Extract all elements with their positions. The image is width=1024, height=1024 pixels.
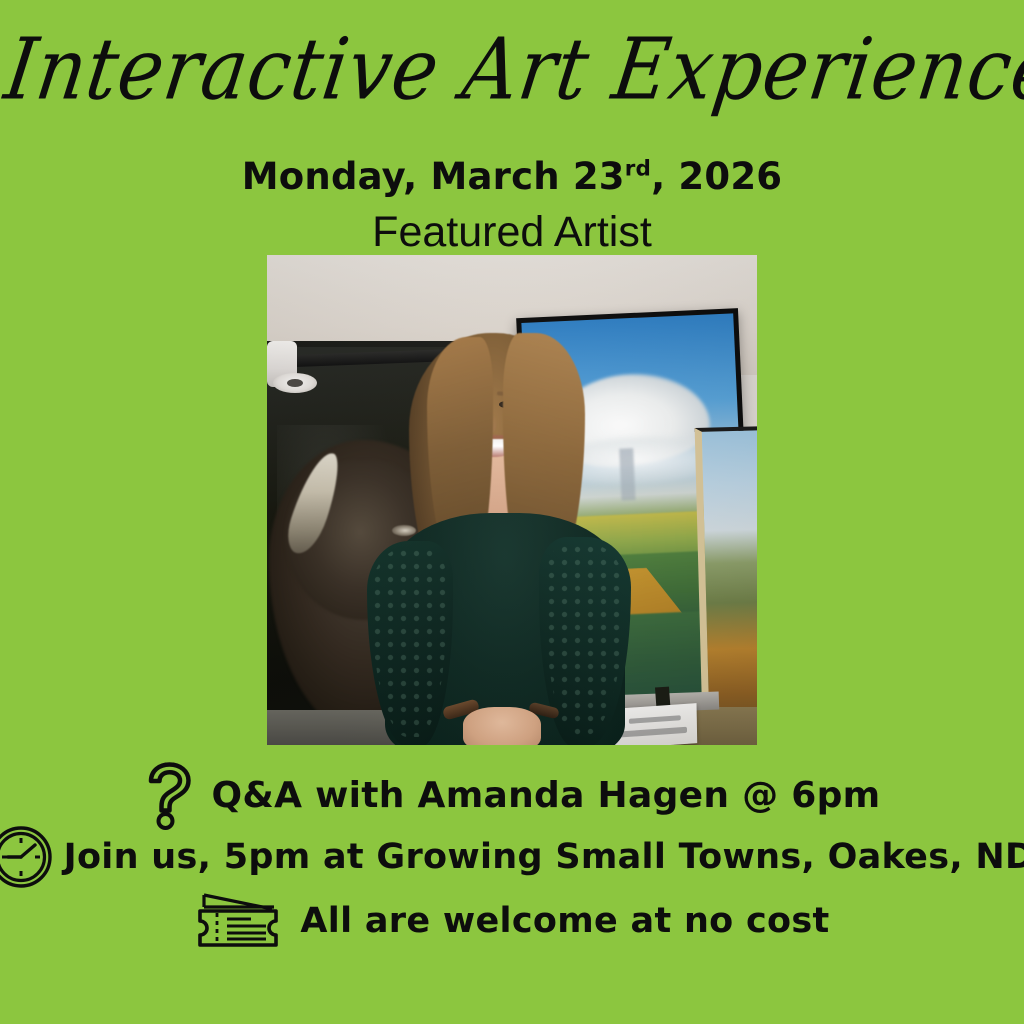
poster-title-container: Interactive Art Experience xyxy=(0,34,1024,114)
info-text-qa: Q&A with Amanda Hagen @ 6pm xyxy=(212,778,881,814)
featured-artist-photo xyxy=(267,255,757,745)
event-date-year: , 2026 xyxy=(651,155,782,198)
question-mark-icon xyxy=(144,762,196,830)
event-poster: Interactive Art Experience Monday, March… xyxy=(0,0,1024,1024)
info-line-qa: Q&A with Amanda Hagen @ 6pm xyxy=(0,762,1024,830)
clock-icon xyxy=(0,826,52,888)
photo-vignette xyxy=(267,255,757,745)
event-date-prefix: Monday, March 23 xyxy=(242,155,625,198)
event-date-ordinal: rd xyxy=(625,157,651,182)
poster-subtitle: Featured Artist xyxy=(372,208,652,257)
event-date-container: Monday, March 23rd, 2026 xyxy=(0,155,1024,198)
info-line-cost: All are welcome at no cost xyxy=(0,892,1024,950)
info-line-location: Join us, 5pm at Growing Small Towns, Oak… xyxy=(0,826,1024,888)
ticket-icon xyxy=(194,892,282,950)
event-date: Monday, March 23rd, 2026 xyxy=(242,155,782,198)
info-text-location: Join us, 5pm at Growing Small Towns, Oak… xyxy=(64,840,1024,875)
info-text-cost: All are welcome at no cost xyxy=(300,904,829,939)
page-title: Interactive Art Experience xyxy=(0,24,1024,113)
subtitle-container: Featured Artist xyxy=(0,208,1024,257)
